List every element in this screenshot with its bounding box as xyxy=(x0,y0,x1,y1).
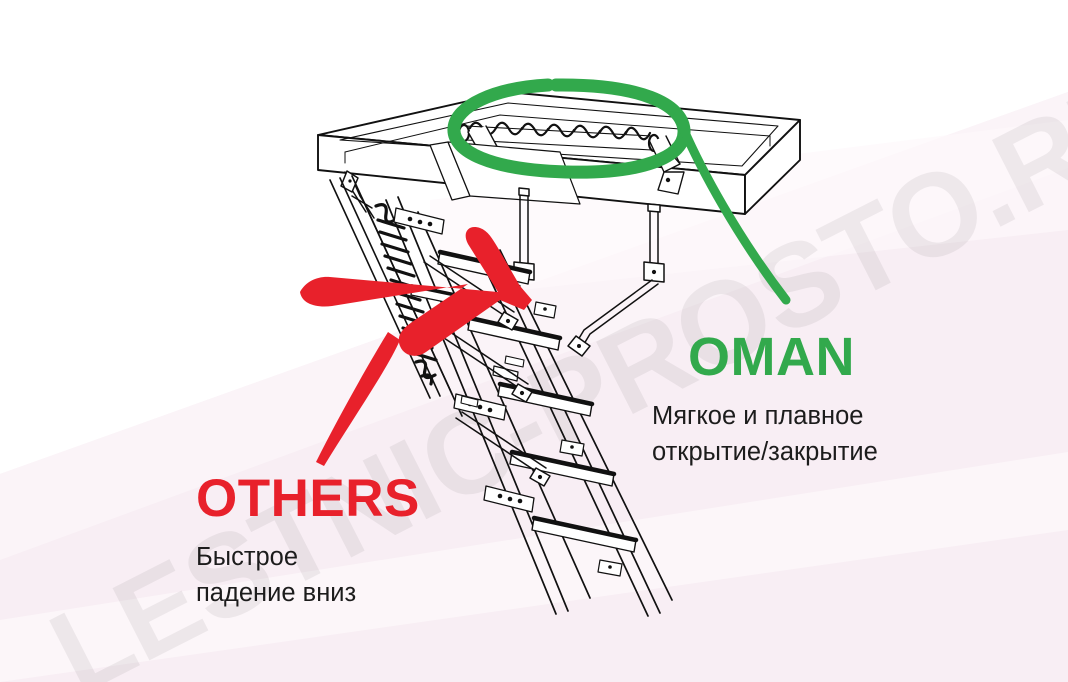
callout-others: OTHERS Быстрое падение вниз xyxy=(196,472,420,611)
oman-subtitle-line-1: Мягкое и плавное xyxy=(652,398,878,434)
others-title: OTHERS xyxy=(196,472,420,525)
oman-title: OMAN xyxy=(688,330,878,384)
others-subtitle-line-1: Быстрое xyxy=(196,539,420,575)
callout-oman: OMAN Мягкое и плавное открытие/закрытие xyxy=(652,330,878,470)
infographic-canvas: LESTNIC-PROSTO.RU xyxy=(0,0,1068,682)
labels-layer: OMAN Мягкое и плавное открытие/закрытие … xyxy=(0,0,1068,682)
oman-subtitle-line-2: открытие/закрытие xyxy=(652,434,878,470)
others-subtitle-line-2: падение вниз xyxy=(196,575,420,611)
